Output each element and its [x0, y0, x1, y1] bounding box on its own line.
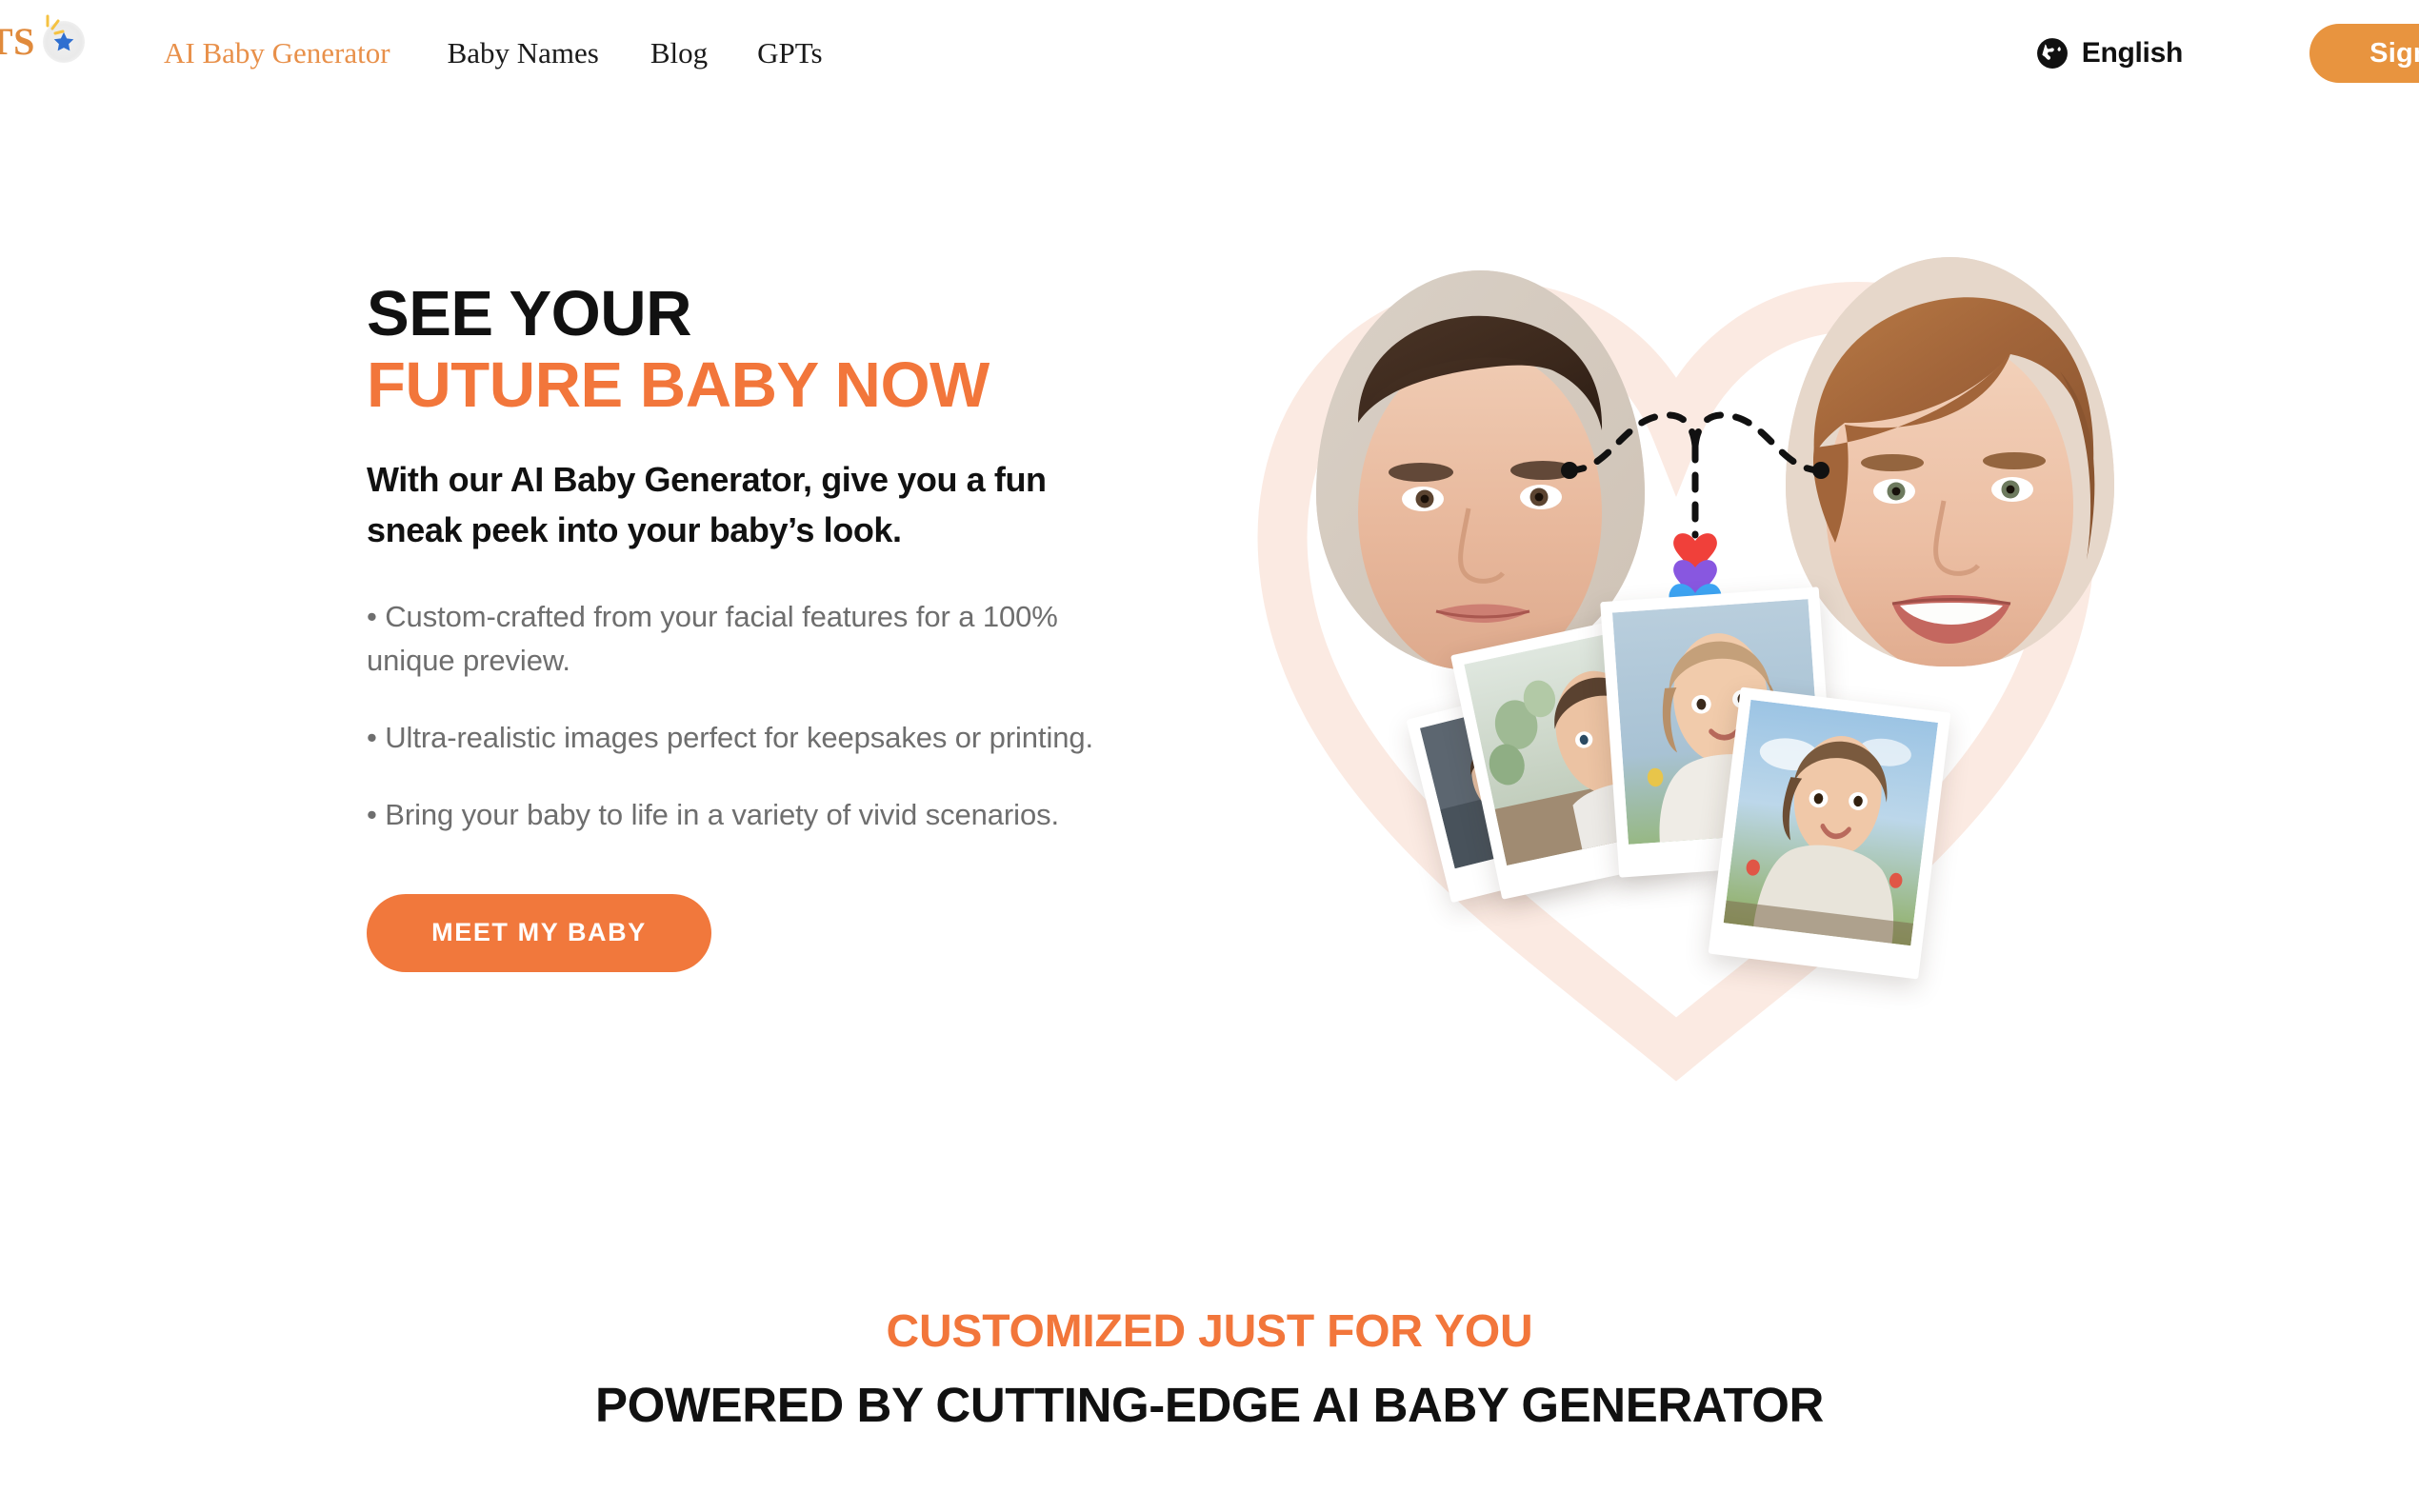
- nav-link-blog[interactable]: Blog: [650, 36, 708, 70]
- language-label: English: [2082, 37, 2183, 70]
- primary-nav-links: AI Baby Generator Baby Names Blog GPTs: [164, 0, 823, 107]
- list-item: • Bring your baby to life in a variety o…: [367, 793, 1140, 837]
- section-title: POWERED BY CUTTING-EDGE AI BABY GENERATO…: [0, 1376, 2419, 1435]
- nav-link-baby-names[interactable]: Baby Names: [448, 36, 599, 70]
- hero-illustration: [1229, 211, 2124, 1087]
- headline-line-1: SEE YOUR: [367, 278, 691, 349]
- globe-icon: [2036, 37, 2069, 70]
- site-logo[interactable]: PTS: [0, 21, 85, 63]
- hero-section: SEE YOUR FUTURE BABY NOW With our AI Bab…: [0, 107, 2419, 1230]
- nav-right-cluster: English Sign: [2036, 0, 2419, 107]
- hero-feature-list: • Custom-crafted from your facial featur…: [367, 595, 1157, 837]
- headline-line-2: FUTURE BABY NOW: [367, 349, 1157, 421]
- language-selector[interactable]: English: [2036, 37, 2183, 70]
- meet-my-baby-button[interactable]: MEET MY BABY: [367, 894, 711, 972]
- list-item: • Custom-crafted from your facial featur…: [367, 595, 1140, 683]
- page-title: SEE YOUR FUTURE BABY NOW: [367, 278, 1157, 421]
- sparkle-icon: [29, 13, 67, 51]
- hero-copy-column: SEE YOUR FUTURE BABY NOW With our AI Bab…: [367, 278, 1157, 972]
- list-item: • Ultra-realistic images perfect for kee…: [367, 716, 1140, 760]
- hero-subheading: With our AI Baby Generator, give you a f…: [367, 455, 1129, 555]
- top-navigation-bar: PTS AI Baby Generator Baby Names Blog GP…: [0, 0, 2419, 107]
- sign-in-button[interactable]: Sign: [2309, 24, 2419, 83]
- nav-link-ai-baby-generator[interactable]: AI Baby Generator: [164, 36, 390, 70]
- section-kicker: CUSTOMIZED JUST FOR YOU: [0, 1304, 2419, 1361]
- baby-photo-4: [1709, 687, 1951, 980]
- section-headings: CUSTOMIZED JUST FOR YOU POWERED BY CUTTI…: [0, 1304, 2419, 1435]
- nav-link-gpts[interactable]: GPTs: [757, 36, 822, 70]
